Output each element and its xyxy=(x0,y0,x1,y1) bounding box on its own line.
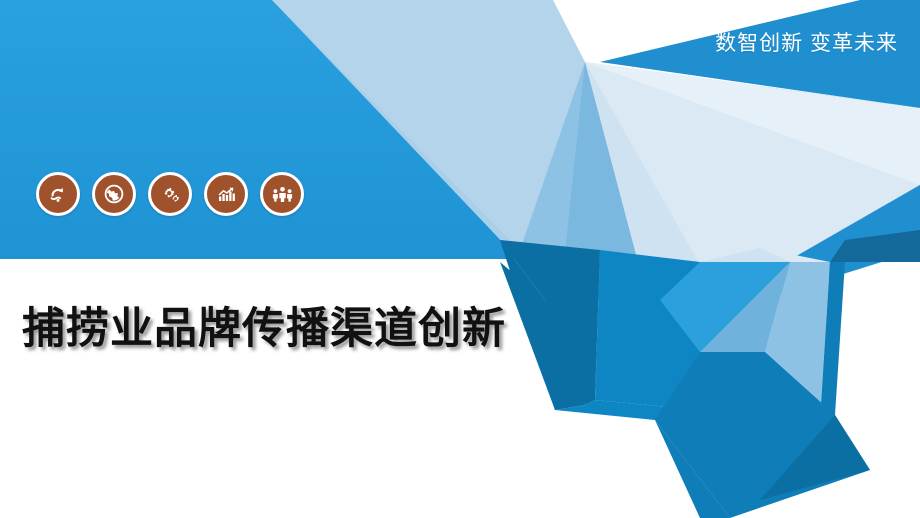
globe-icon xyxy=(102,182,126,206)
recycle-arrow-icon xyxy=(46,182,70,206)
slide-tagline: 数智创新 变革未来 xyxy=(715,27,898,57)
icon-badge-row xyxy=(36,172,304,216)
page-title: 捕捞业品牌传播渠道创新 xyxy=(22,294,506,356)
bar-chart-growth-icon xyxy=(214,182,239,207)
people-group-icon-badge[interactable] xyxy=(260,172,304,216)
recycle-arrow-icon-badge[interactable] xyxy=(36,172,80,216)
people-group-icon xyxy=(270,182,295,207)
polygon-background-artwork xyxy=(0,0,920,518)
bar-chart-growth-icon-badge[interactable] xyxy=(204,172,248,216)
gears-icon-badge[interactable] xyxy=(148,172,192,216)
globe-icon-badge[interactable] xyxy=(92,172,136,216)
slide-canvas: 数智创新 变革未来 xyxy=(0,0,920,518)
gears-icon xyxy=(158,182,183,207)
